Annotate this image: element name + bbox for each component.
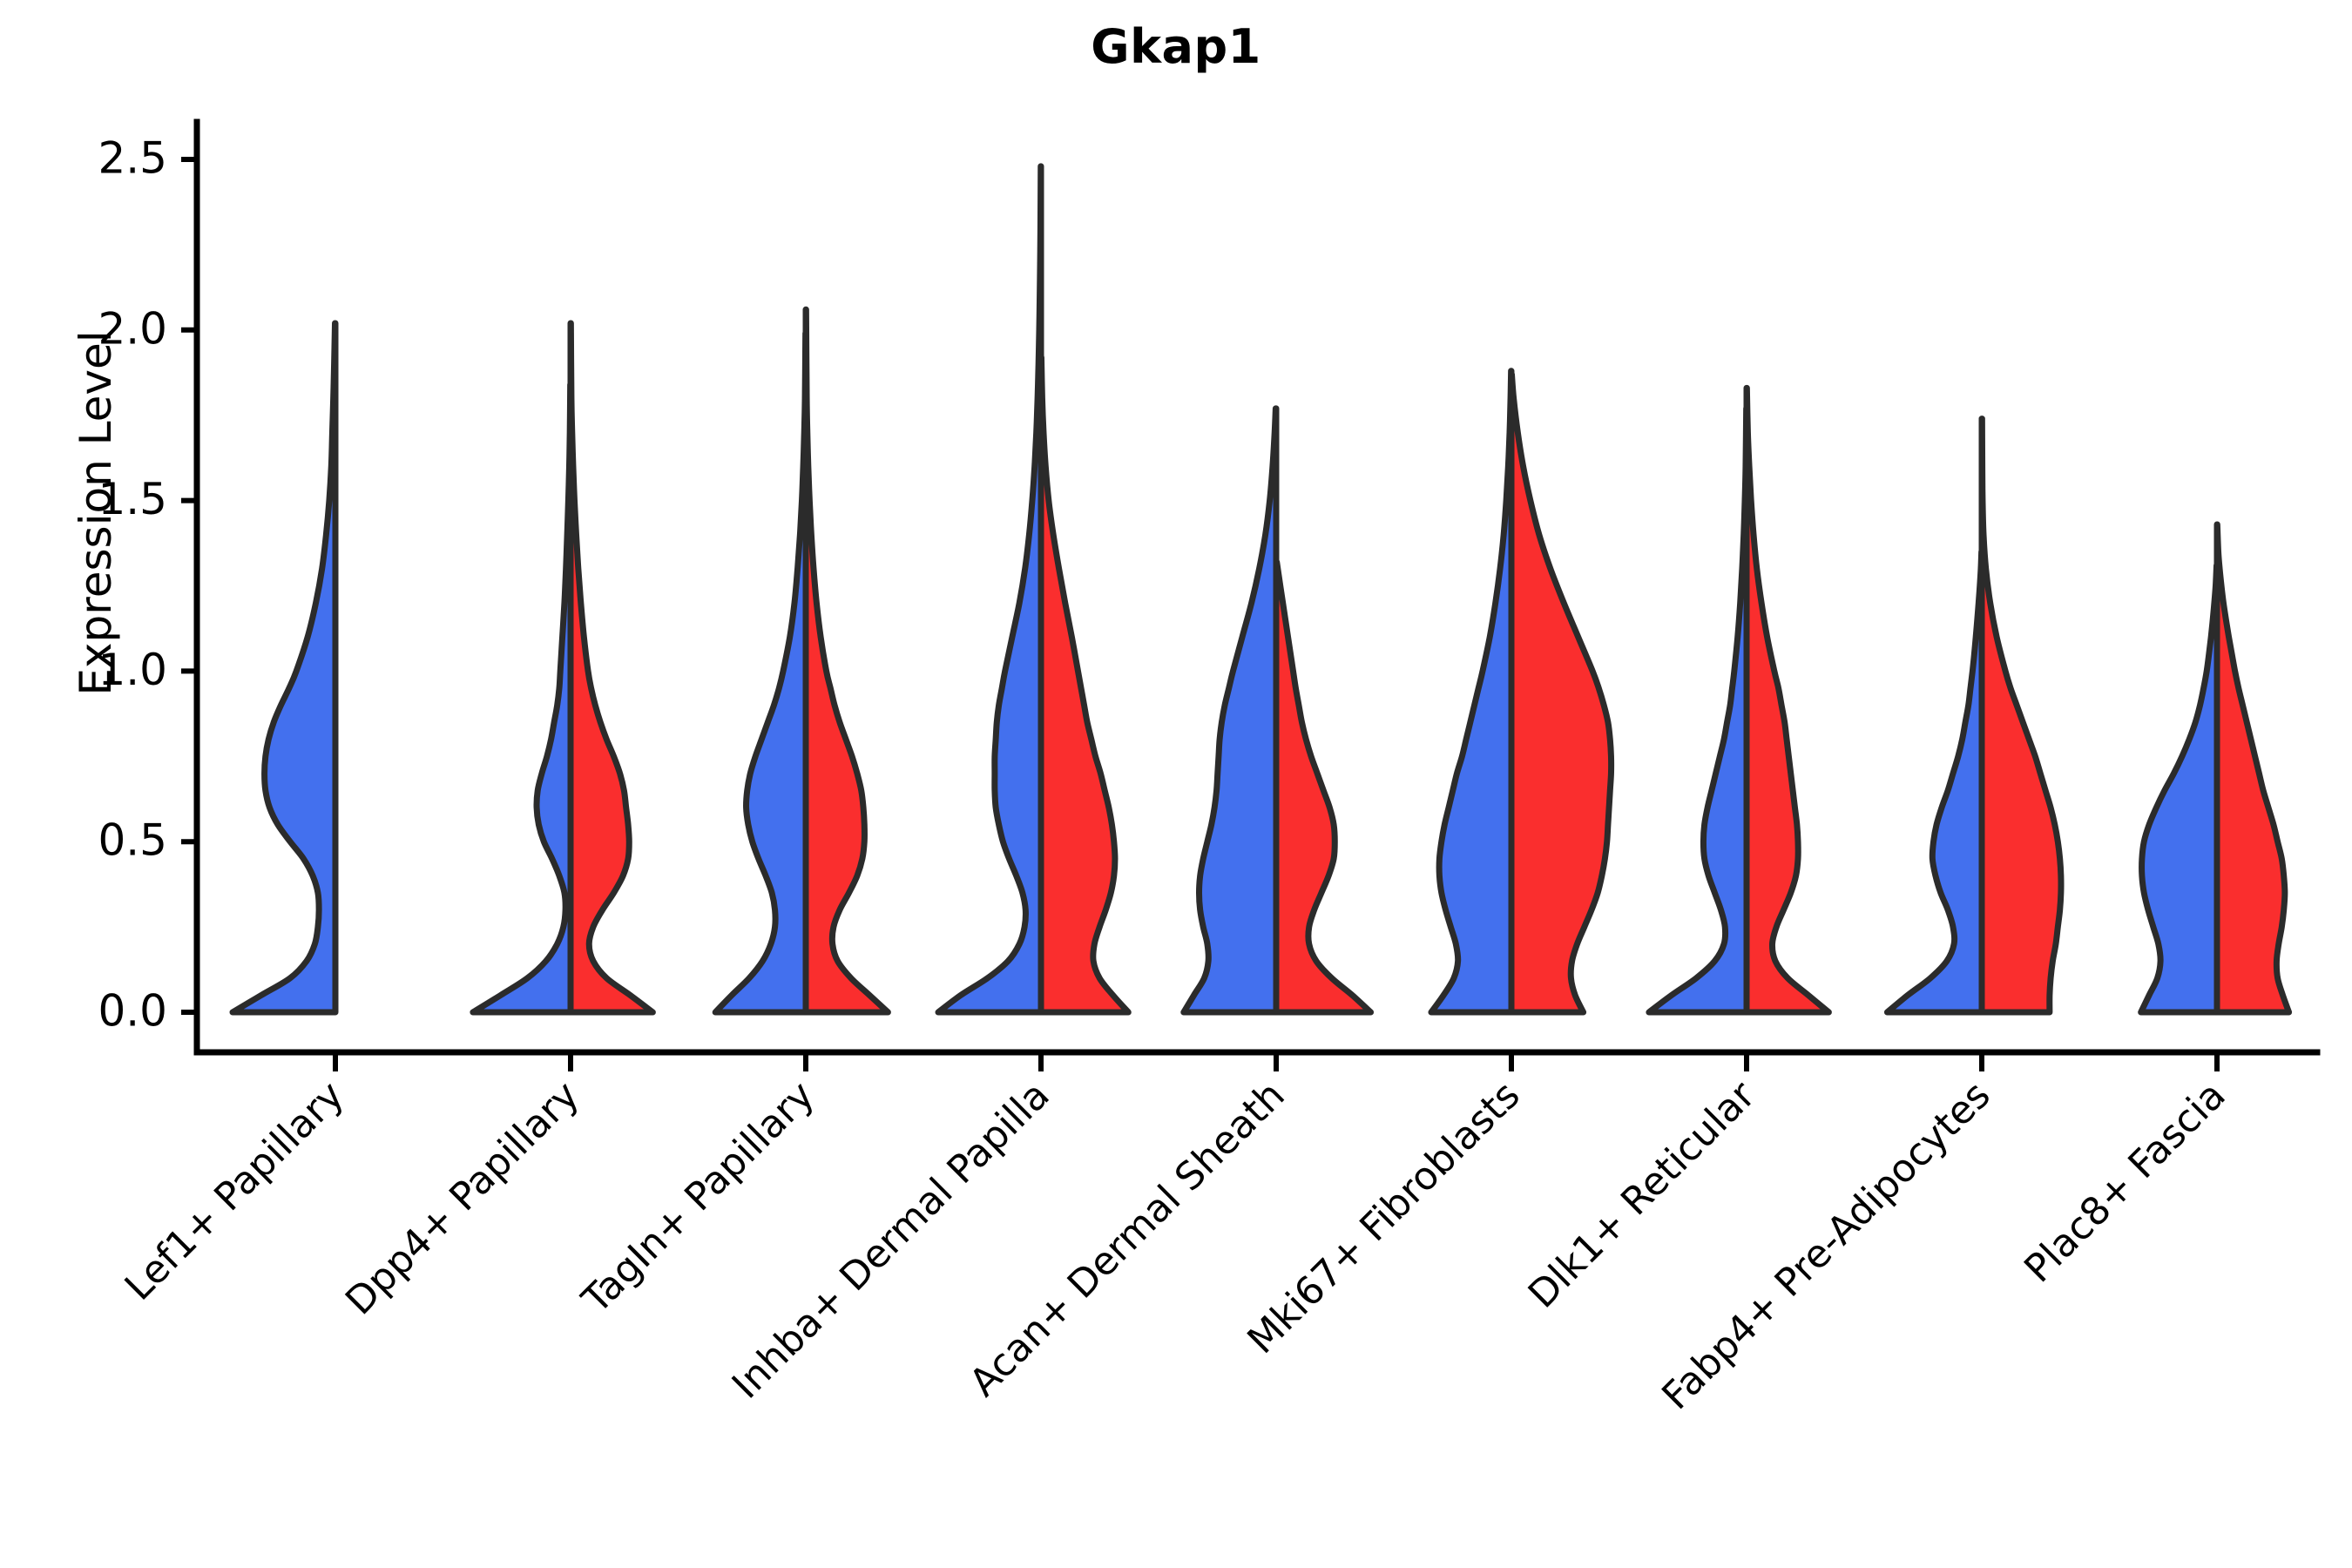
x-tick-labels: Lef1+ PapillaryDpp4+ PapillaryTagIn+ Pap…	[117, 1072, 2234, 1418]
violin-half-red[interactable]	[571, 323, 652, 1012]
violin-group[interactable]	[1887, 419, 2061, 1012]
violin-group[interactable]	[1431, 371, 1612, 1012]
violin-half-red[interactable]	[1511, 375, 1612, 1012]
violin-half-blue[interactable]	[715, 334, 806, 1012]
violin-half-blue[interactable]	[473, 384, 571, 1012]
y-tick-label: 0.0	[98, 986, 167, 1037]
x-tick-label: Plac8+ Fascia	[2016, 1073, 2234, 1292]
x-tick-label: Lef1+ Papillary	[117, 1073, 353, 1309]
x-tick-label: Mki67+ Fibroblasts	[1239, 1073, 1528, 1362]
violin-group[interactable]	[473, 323, 653, 1012]
y-tick-label: 1.5	[98, 474, 167, 524]
y-tick-labels: 0.00.51.01.52.02.5	[98, 133, 167, 1037]
violin-group[interactable]	[1184, 409, 1371, 1012]
violin-group[interactable]	[1649, 388, 1828, 1012]
violin-half-blue[interactable]	[2141, 565, 2217, 1012]
violin-half-red[interactable]	[1982, 419, 2061, 1012]
violin-half-blue[interactable]	[1887, 551, 1982, 1012]
violin-plot-figure: Gkap1 Expression Level 0.00.51.01.52.02.…	[0, 0, 2352, 1568]
y-tick-label: 0.5	[98, 815, 167, 866]
violin-half-red[interactable]	[2217, 524, 2289, 1012]
y-tick-label: 2.0	[98, 303, 167, 354]
violin-half-blue[interactable]	[233, 323, 335, 1012]
violin-half-red[interactable]	[1276, 562, 1371, 1012]
violin-group[interactable]	[233, 323, 335, 1012]
violin-half-red[interactable]	[1041, 357, 1128, 1012]
violin-chart-svg: 0.00.51.01.52.02.5 Lef1+ PapillaryDpp4+ …	[0, 0, 2352, 1568]
violin-half-blue[interactable]	[1431, 371, 1511, 1012]
violin-half-blue[interactable]	[1184, 409, 1276, 1012]
violin-half-blue[interactable]	[938, 166, 1041, 1012]
x-tick-label: TagIn+ Papillary	[573, 1073, 823, 1323]
violin-group[interactable]	[2141, 524, 2289, 1012]
violin-group[interactable]	[938, 166, 1128, 1012]
violin-half-red[interactable]	[1747, 388, 1828, 1012]
y-tick-label: 1.0	[98, 645, 167, 695]
x-tick-label: Dlk1+ Reticular	[1520, 1072, 1765, 1317]
violin-group[interactable]	[715, 309, 888, 1012]
x-tick-label: Dpp4+ Papillary	[337, 1073, 588, 1324]
violin-half-blue[interactable]	[1649, 409, 1747, 1012]
violins-layer	[233, 166, 2289, 1012]
violin-half-red[interactable]	[806, 309, 888, 1012]
y-tick-label: 2.5	[98, 133, 167, 184]
